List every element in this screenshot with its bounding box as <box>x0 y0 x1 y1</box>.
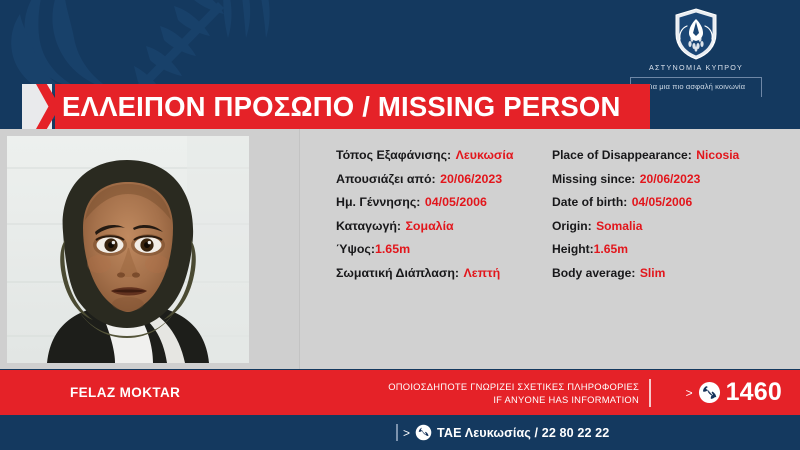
detail-label: Date of birth: <box>552 195 627 209</box>
detail-row: Απουσιάζει από: 20/06/2023 <box>336 171 513 187</box>
detail-value: Slim <box>640 266 666 280</box>
photo-frame <box>7 136 249 363</box>
detail-value: 20/06/2023 <box>440 172 502 186</box>
info-text-english: IF ANYONE HAS INFORMATION <box>493 393 639 406</box>
info-text-greek: ΟΠΟΙΟΣΔΗΠΟΤΕ ΓΝΩΡΙΖΕΙ ΣΧΕΤΙΚΕΣ ΠΛΗΡΟΦΟΡΙ… <box>388 380 639 393</box>
detail-label: Place of Disappearance: <box>552 148 692 162</box>
detail-row: Καταγωγή: Σομαλία <box>336 218 513 234</box>
poster-title: ΕΛΛΕΙΠΟΝ ΠΡΟΣΩΠΟ / MISSING PERSON <box>62 84 621 129</box>
police-organisation-name: ΑΣΤΥΝΟΜΙΑ ΚΥΠΡΟΥ <box>610 63 782 72</box>
detail-value: 1.65m <box>375 242 410 256</box>
detail-row: Σωματική Διάπλαση: Λεπτή <box>336 265 513 281</box>
main-panel: Τόπος Εξαφάνισης: Λευκωσία Απουσιάζει απ… <box>0 129 800 369</box>
cyprus-police-shield-icon <box>668 6 724 62</box>
chevron-right-icon: > <box>403 427 410 439</box>
local-contact-block[interactable]: > ΤΑΕ Λευκωσίας / 22 80 22 22 <box>396 415 609 450</box>
details-column-greek: Τόπος Εξαφάνισης: Λευκωσία Απουσιάζει απ… <box>336 147 513 288</box>
detail-label: Ύψος: <box>336 242 375 256</box>
chevron-right-icon: > <box>686 387 693 399</box>
missing-person-photo <box>7 136 249 363</box>
detail-value: Nicosia <box>696 148 739 162</box>
title-banner: ΕΛΛΕΙΠΟΝ ΠΡΟΣΩΠΟ / MISSING PERSON <box>0 84 800 129</box>
detail-label: Body average: <box>552 266 635 280</box>
detail-label: Height: <box>552 242 594 256</box>
details-column-english: Place of Disappearance: Nicosia Missing … <box>552 147 739 288</box>
detail-value: Λεπτή <box>464 266 501 280</box>
footer-navy-strip: > ΤΑΕ Λευκωσίας / 22 80 22 22 <box>0 415 800 450</box>
detail-value: 04/05/2006 <box>425 195 487 209</box>
detail-value: 1.65m <box>594 242 628 256</box>
details-pane: Τόπος Εξαφάνισης: Λευκωσία Απουσιάζει απ… <box>300 129 800 369</box>
person-name: FELAZ MOKTAR <box>70 370 180 415</box>
detail-label: Καταγωγή: <box>336 219 401 233</box>
detail-row: Origin: Somalia <box>552 218 739 234</box>
detail-label: Σωματική Διάπλαση: <box>336 266 459 280</box>
detail-value: Somalia <box>596 219 642 233</box>
detail-label: Τόπος Εξαφάνισης: <box>336 148 451 162</box>
detail-label: Origin: <box>552 219 592 233</box>
detail-row: Body average: Slim <box>552 265 739 281</box>
hotline-number: 1460 <box>726 380 782 405</box>
detail-row: Height:1.65m <box>552 241 739 257</box>
photo-pane <box>0 129 300 369</box>
footer-separator <box>649 379 651 407</box>
info-call-to-action: ΟΠΟΙΟΣΔΗΠΟΤΕ ΓΝΩΡΙΖΕΙ ΣΧΕΤΙΚΕΣ ΠΛΗΡΟΦΟΡΙ… <box>388 370 639 415</box>
local-contact-text: ΤΑΕ Λευκωσίας / 22 80 22 22 <box>437 426 609 440</box>
missing-person-poster: ΑΣΤΥΝΟΜΙΑ ΚΥΠΡΟΥ Για μια πιο ασφαλή κοιν… <box>0 0 800 450</box>
detail-label: Ημ. Γέννησης: <box>336 195 420 209</box>
detail-value: Λευκωσία <box>456 148 514 162</box>
detail-value: 20/06/2023 <box>640 172 701 186</box>
local-contact-divider <box>396 424 398 441</box>
detail-row: Ημ. Γέννησης: 04/05/2006 <box>336 194 513 210</box>
footer-red-strip: FELAZ MOKTAR ΟΠΟΙΟΣΔΗΠΟΤΕ ΓΝΩΡΙΖΕΙ ΣΧΕΤΙ… <box>0 370 800 415</box>
phone-circle-icon <box>415 424 432 441</box>
detail-label: Missing since: <box>552 172 635 186</box>
detail-value: 04/05/2006 <box>632 195 693 209</box>
detail-row: Ύψος:1.65m <box>336 241 513 257</box>
detail-row: Missing since: 20/06/2023 <box>552 171 739 187</box>
detail-value: Σομαλία <box>405 219 453 233</box>
hotline-block[interactable]: > 1460 <box>686 370 782 415</box>
detail-row: Date of birth: 04/05/2006 <box>552 194 739 210</box>
phone-circle-icon <box>698 381 721 404</box>
detail-row: Τόπος Εξαφάνισης: Λευκωσία <box>336 147 513 163</box>
detail-label: Απουσιάζει από: <box>336 172 436 186</box>
detail-row: Place of Disappearance: Nicosia <box>552 147 739 163</box>
